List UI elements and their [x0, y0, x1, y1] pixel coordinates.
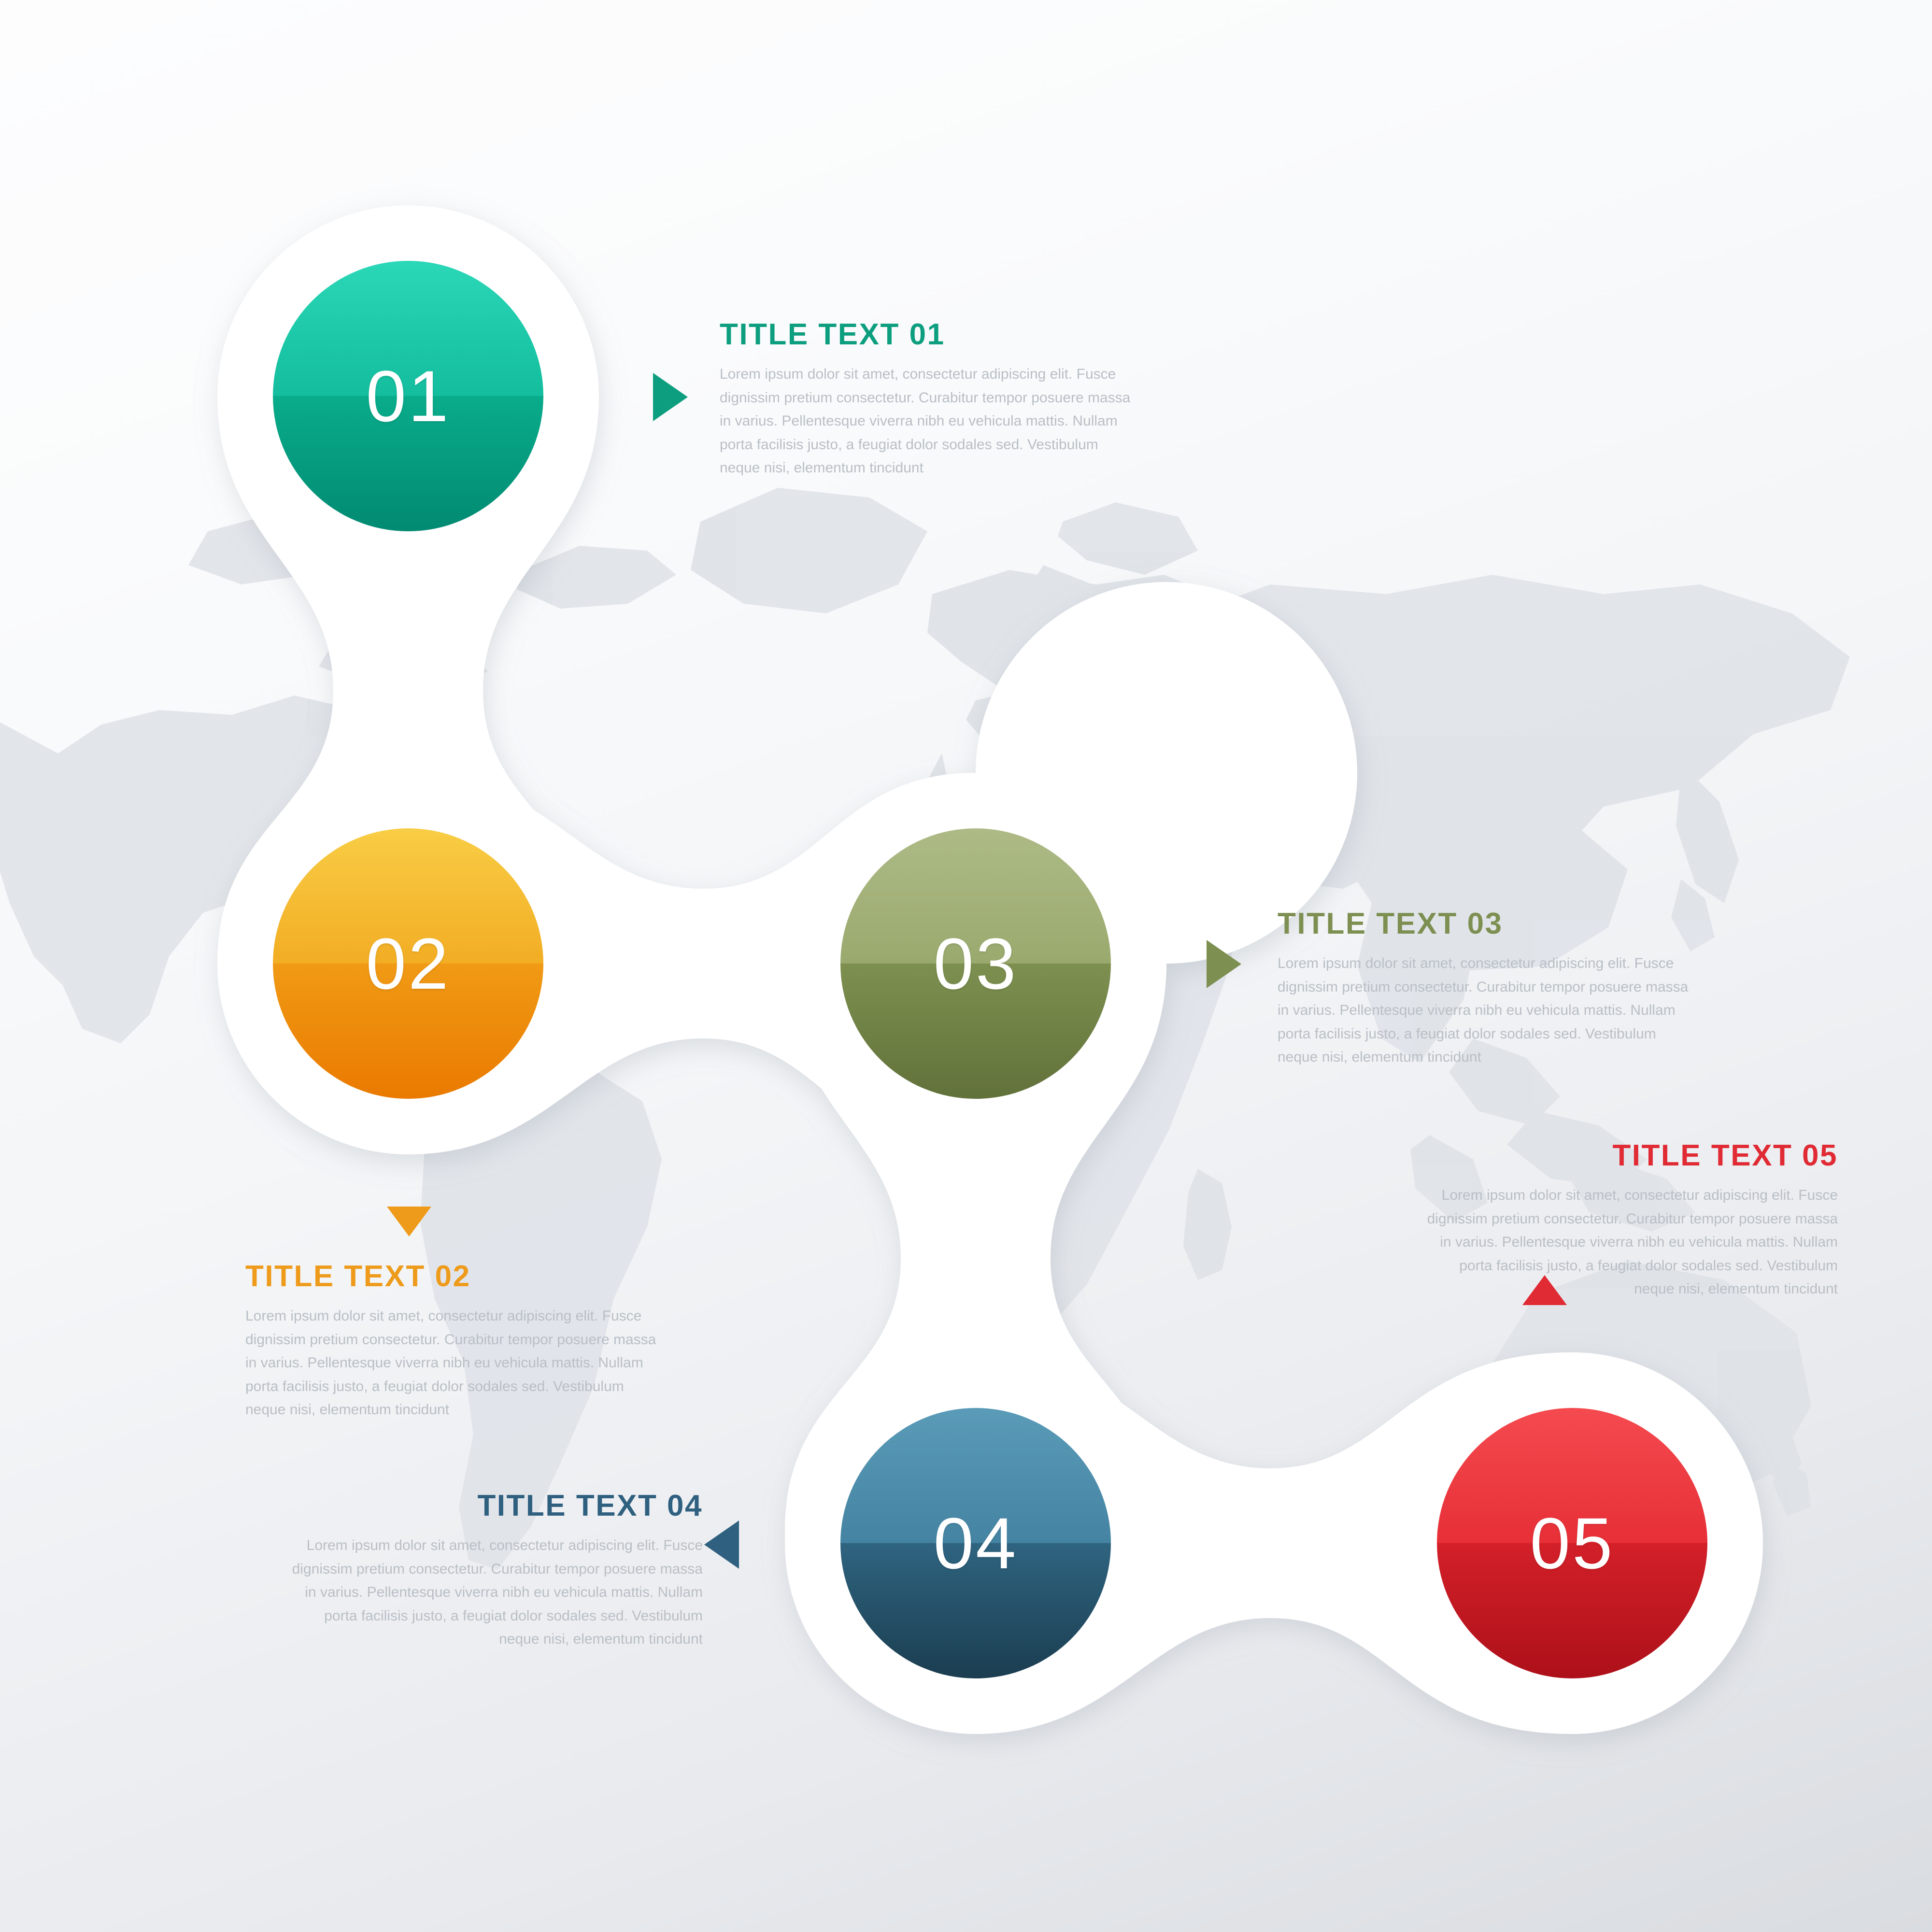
arrow-right-icon-03: [1207, 940, 1241, 988]
step-body-01: Lorem ipsum dolor sit amet, consectetur …: [720, 363, 1135, 480]
arrow-right-icon-01: [653, 373, 688, 421]
step-circle-04: [840, 1408, 1111, 1678]
step-body-03: Lorem ipsum dolor sit amet, consectetur …: [1278, 952, 1693, 1069]
step-text-block-05: TITLE TEXT 05 Lorem ipsum dolor sit amet…: [1422, 1140, 1838, 1301]
infographic-canvas: 01 02 03 04 05 TITLE TEXT 01 Lorem ipsum…: [0, 0, 1932, 1932]
step-title-01: TITLE TEXT 01: [720, 319, 1135, 350]
step-circle-02: [273, 828, 543, 1099]
step-title-02: TITLE TEXT 02: [245, 1261, 661, 1292]
step-circle-01: [273, 261, 543, 531]
step-circle-05: [1437, 1408, 1707, 1678]
step-circle-03: [840, 828, 1111, 1099]
arrow-down-icon-02: [387, 1207, 431, 1236]
step-text-block-02: TITLE TEXT 02 Lorem ipsum dolor sit amet…: [245, 1261, 661, 1422]
step-body-02: Lorem ipsum dolor sit amet, consectetur …: [245, 1305, 661, 1422]
step-title-03: TITLE TEXT 03: [1278, 908, 1693, 939]
step-body-05: Lorem ipsum dolor sit amet, consectetur …: [1422, 1184, 1838, 1301]
step-body-04: Lorem ipsum dolor sit amet, consectetur …: [287, 1534, 703, 1651]
step-title-04: TITLE TEXT 04: [287, 1490, 703, 1521]
step-text-block-04: TITLE TEXT 04 Lorem ipsum dolor sit amet…: [287, 1490, 703, 1651]
arrow-left-icon-04: [704, 1520, 739, 1569]
step-text-block-03: TITLE TEXT 03 Lorem ipsum dolor sit amet…: [1278, 908, 1693, 1069]
step-text-block-01: TITLE TEXT 01 Lorem ipsum dolor sit amet…: [720, 319, 1135, 480]
step-title-05: TITLE TEXT 05: [1422, 1140, 1838, 1171]
